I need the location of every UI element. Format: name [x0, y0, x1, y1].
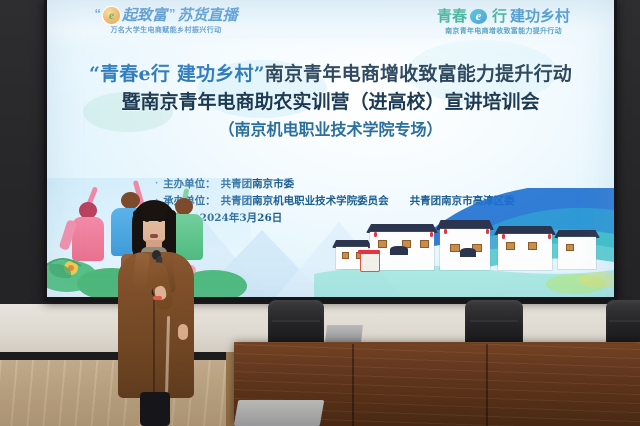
- house-wall: [498, 234, 552, 270]
- quote-open-mark: “: [94, 7, 101, 20]
- title-rest: 南京青年电商增收致富能力提升行动: [265, 63, 572, 85]
- chair-seam: [272, 320, 319, 322]
- legs: [140, 392, 170, 426]
- house-window: [450, 244, 460, 252]
- title-line-1: “青春e行 建功乡村”南京青年电商增收致富能力提升行动: [47, 64, 614, 86]
- presenter: [108, 196, 218, 426]
- logo-subtitle: 万名大学生电商赋能乡村振兴行动: [56, 27, 276, 34]
- wristband: [153, 296, 162, 300]
- house-door: [390, 246, 408, 255]
- house-wall: [558, 237, 596, 269]
- house-window: [566, 244, 574, 251]
- title-highlight: “青春e行 建功乡村”: [89, 63, 265, 85]
- qingchun-exing-logo: 青春 行 建功乡村 南京青年电商增收致富能力提升行动: [401, 7, 606, 35]
- podium-seam: [352, 344, 354, 426]
- coat-placket: [153, 292, 155, 396]
- photo-scene: “ 起致富 ” 苏货直播 万名大学生电商赋能乡村振兴行动 青春 行 建功乡村 南…: [0, 0, 640, 426]
- laptop: [325, 325, 363, 343]
- podium-seam: [486, 344, 488, 426]
- document: [234, 400, 325, 426]
- hand-lowered: [178, 324, 188, 340]
- house-window: [378, 240, 387, 248]
- house-door: [460, 248, 476, 257]
- lantern-icon: [430, 232, 433, 237]
- quote-close-mark: ”: [169, 7, 176, 20]
- title-line-3: （南京机电职业技术学院专场）: [47, 121, 614, 139]
- chair-seam: [470, 320, 519, 322]
- logo-word-2: 行: [492, 9, 507, 24]
- chair: [465, 300, 523, 346]
- lantern-icon: [502, 234, 505, 239]
- title-line-2: 暨南京青年电商助农实训营（进高校）宣讲培训会: [47, 92, 614, 114]
- chair: [606, 300, 640, 346]
- village-gate: [360, 252, 380, 272]
- slide-title-block: “青春e行 建功乡村”南京青年电商增收致富能力提升行动 暨南京青年电商助农实训营…: [47, 64, 614, 139]
- chair-seam: [609, 320, 640, 322]
- mouth: [150, 234, 158, 238]
- jiangnan-village-illustration: [314, 188, 614, 297]
- lantern-icon: [374, 232, 377, 237]
- house-window: [420, 240, 429, 248]
- house-window: [342, 252, 349, 259]
- house-window: [506, 242, 515, 250]
- house-window: [528, 242, 537, 250]
- lantern-icon: [548, 234, 551, 239]
- suhuo-zhibo-logo: “ 起致富 ” 苏货直播 万名大学生电商赋能乡村振兴行动: [56, 6, 276, 34]
- logo-subtitle-right: 南京青年电商增收致富能力提升行动: [401, 28, 606, 35]
- lantern-icon: [444, 229, 447, 234]
- logo-main-text-2: 苏货直播: [178, 8, 238, 23]
- logo-main-text: 起致富: [122, 8, 167, 23]
- gate-banner: [358, 250, 380, 254]
- e-swoosh-icon: [470, 8, 489, 25]
- e-badge-icon: [103, 7, 120, 24]
- logo-word-3: 建功乡村: [510, 9, 570, 24]
- lantern-icon: [486, 229, 489, 234]
- logo-word-1: 青春: [437, 9, 467, 24]
